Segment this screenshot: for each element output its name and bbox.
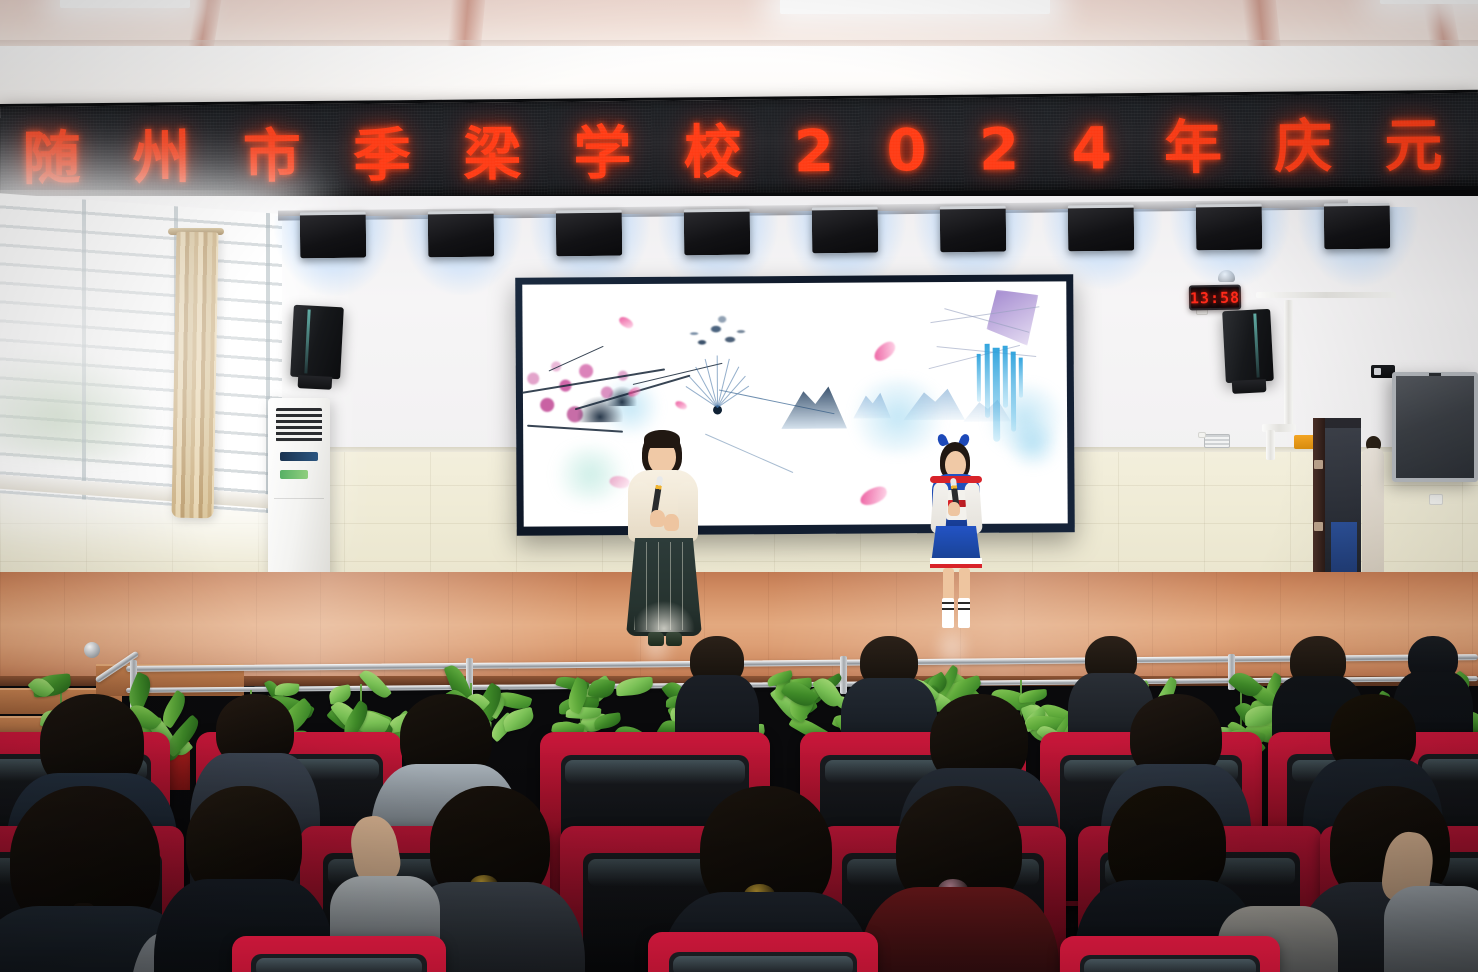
window-with-blinds [0, 193, 282, 514]
wall-plate [1429, 494, 1443, 505]
stage-spotlight [556, 209, 622, 256]
audience-seat[interactable] [1060, 936, 1280, 972]
ceiling-panel-light [60, 0, 190, 8]
seat-highlight [565, 760, 744, 783]
stage-spotlight [428, 210, 494, 257]
floor-standing-ac-unit [268, 398, 330, 596]
seat-highlight [1084, 959, 1256, 972]
audience-seat[interactable] [648, 932, 878, 972]
window-curtain [172, 232, 219, 519]
wall-conduit [1266, 430, 1275, 460]
stage-spotlight [300, 212, 366, 259]
stage-spotlight [684, 208, 750, 255]
ac-brand-badge [280, 470, 308, 479]
wall-plate [1198, 432, 1206, 438]
falling-petal [617, 314, 634, 330]
audience-seat[interactable] [232, 936, 446, 972]
stage-spotlight [1324, 202, 1390, 249]
clock-time: 13:58 [1190, 288, 1240, 307]
auditorium-scene: 随 州 市 季 梁 学 校 2 0 2 4 年 庆 元 旦 文 艺 13:58 [0, 0, 1478, 972]
falling-petal [871, 339, 899, 364]
ac-grille [276, 408, 322, 442]
stage-spotlight [1068, 205, 1134, 252]
wall-conduit [1284, 300, 1293, 426]
stage-spotlight [812, 207, 878, 254]
ceiling-panel-light [1380, 0, 1478, 4]
wall-vent-grille [1204, 434, 1230, 448]
performer-left [612, 430, 716, 650]
wall-speaker [1222, 309, 1274, 383]
ac-display-panel [280, 452, 318, 461]
interactive-flat-panel-display[interactable] [1392, 372, 1478, 482]
performer-right [920, 438, 992, 638]
led-banner: 随 州 市 季 梁 学 校 2 0 2 4 年 庆 元 旦 文 艺 [0, 90, 1478, 204]
audience-person [859, 887, 1059, 972]
seat-highlight [256, 958, 423, 972]
wall-speaker [290, 305, 344, 380]
falling-petal [858, 484, 889, 508]
seat-highlight [673, 956, 852, 972]
wall-led-clock: 13:58 [1189, 285, 1241, 311]
ink-mountain [781, 383, 847, 429]
ceiling-panel-light [780, 0, 1050, 14]
falling-petal [674, 399, 688, 411]
led-banner-text: 随 州 市 季 梁 学 校 2 0 2 4 年 庆 元 旦 文 艺 [22, 94, 1478, 195]
stage-spotlight [940, 206, 1006, 253]
dome-camera [1218, 270, 1235, 282]
seated-audience [0, 636, 1478, 972]
audience-sleeve [1384, 886, 1478, 972]
wall-conduit [1256, 292, 1396, 298]
open-doorway [1313, 418, 1361, 596]
panel-indicator-led [1429, 373, 1441, 376]
stage-spotlight [1196, 204, 1262, 251]
